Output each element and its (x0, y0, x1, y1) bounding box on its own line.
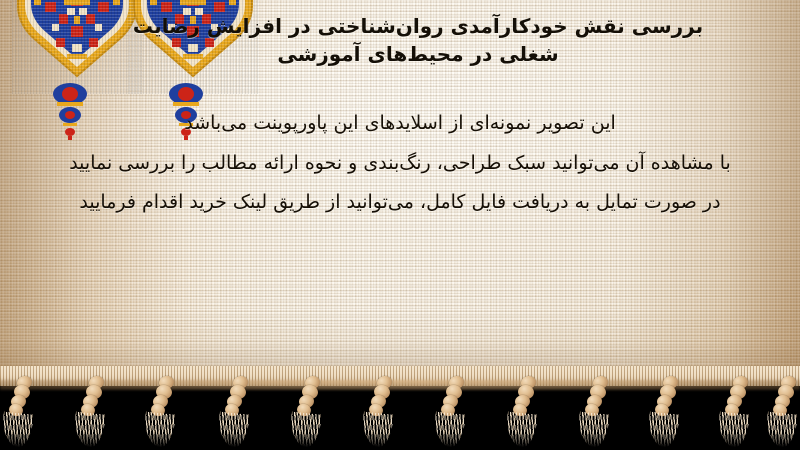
slide-title-line-1: بررسی نقش خودکارآمدی روان‌شناختی در افزا… (78, 12, 758, 40)
slide-body-line-3: در صورت تمایل به دریافت فایل کامل، می‌تو… (40, 183, 760, 223)
slide-body: این تصویر نمونه‌ای از اسلایدهای این پاور… (40, 104, 760, 223)
slide-title: بررسی نقش خودکارآمدی روان‌شناختی در افزا… (78, 12, 758, 69)
slide-text-layer: بررسی نقش خودکارآمدی روان‌شناختی در افزا… (0, 0, 800, 450)
powerpoint-slide: بررسی نقش خودکارآمدی روان‌شناختی در افزا… (0, 0, 800, 450)
slide-body-line-1: این تصویر نمونه‌ای از اسلایدهای این پاور… (40, 104, 760, 144)
slide-body-line-2: با مشاهده آن می‌توانید سبک طراحی، رنگ‌بن… (40, 144, 760, 184)
slide-title-line-2: شغلی در محیط‌های آموزشی (78, 40, 758, 68)
